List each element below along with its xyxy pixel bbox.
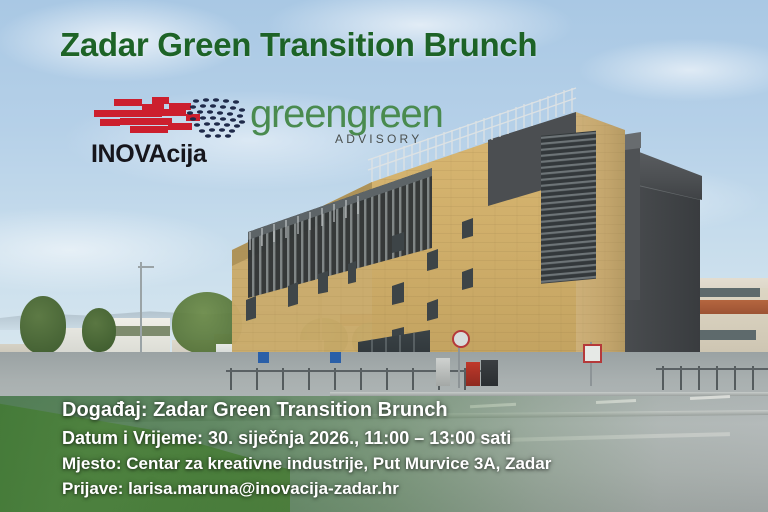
tree — [82, 308, 116, 352]
inovacija-wordmark: INOVAcija — [91, 140, 206, 169]
red-utility-box — [466, 362, 480, 386]
street-light-pole — [138, 266, 154, 268]
tiled-roof — [650, 300, 768, 314]
window — [700, 288, 760, 297]
page-title: Zadar Green Transition Brunch — [60, 26, 537, 64]
greengreen-wordmark: greengreen — [250, 94, 443, 134]
event-poster: Zadar Green Transition Brunch — [0, 0, 768, 512]
logo-row: INOVAcija greengreen ADVISORY — [90, 92, 440, 180]
dark-utility-box — [481, 360, 498, 386]
pedestrian-railing-right — [656, 366, 768, 392]
inovacija-logo: INOVAcija — [90, 92, 250, 174]
blue-road-sign — [330, 352, 341, 363]
street-light-pole — [140, 262, 142, 362]
greengreen-tagline: ADVISORY — [335, 132, 422, 146]
event-registration-line: Prijave: larisa.maruna@inovacija-zadar.h… — [62, 480, 762, 497]
antenna — [682, 268, 690, 280]
event-name-line: Događaj: Zadar Green Transition Brunch — [62, 400, 762, 420]
window — [690, 330, 756, 340]
inovacija-logo-icon — [90, 92, 248, 144]
greengreen-logo: greengreen ADVISORY — [250, 94, 440, 156]
street-light-pole — [316, 262, 334, 264]
street-light-pole — [320, 256, 322, 366]
blue-road-sign — [258, 352, 269, 363]
round-road-sign — [452, 330, 470, 348]
event-details: Događaj: Zadar Green Transition Brunch D… — [62, 400, 762, 497]
tree — [20, 296, 66, 354]
event-datetime-line: Datum i Vrijeme: 30. siječnja 2026., 11:… — [62, 429, 762, 447]
square-road-sign — [583, 344, 602, 363]
utility-cabinet — [436, 358, 450, 386]
event-venue-line: Mjesto: Centar za kreativne industrije, … — [62, 455, 762, 472]
